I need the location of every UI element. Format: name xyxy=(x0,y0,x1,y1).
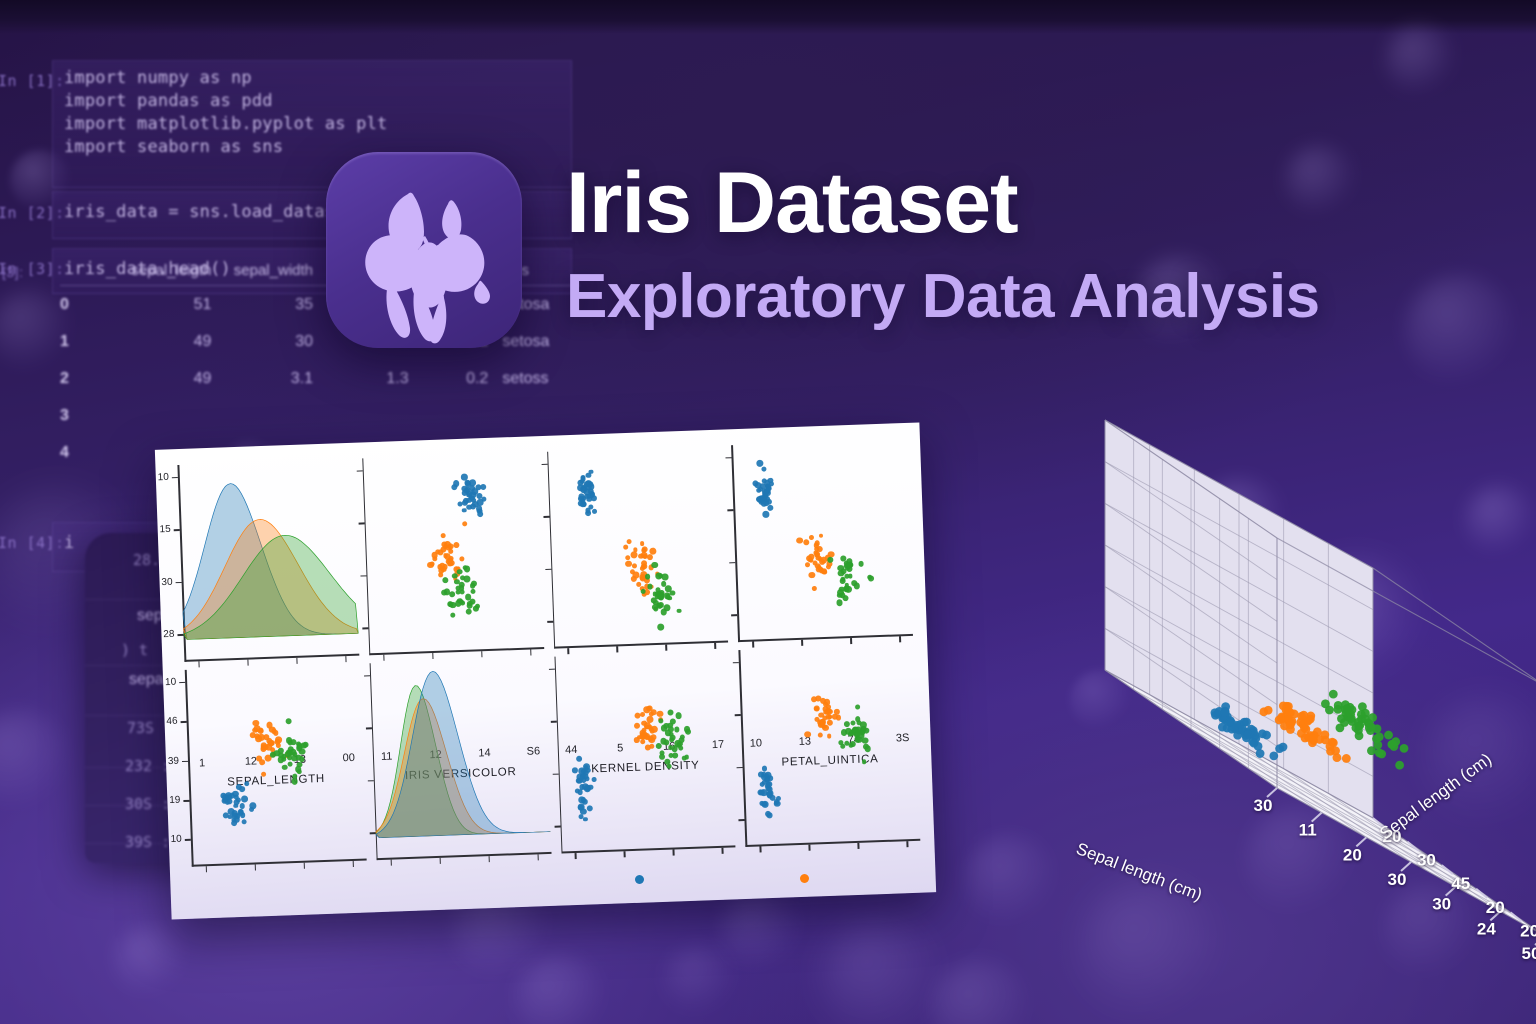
legend-dot xyxy=(635,875,644,884)
scatter-point xyxy=(759,500,764,505)
scatter-point xyxy=(282,765,287,770)
scatter-point xyxy=(239,803,245,809)
scatter-point xyxy=(634,737,640,743)
scatter-point xyxy=(631,552,638,559)
scatter-point xyxy=(827,557,833,563)
x-tick xyxy=(247,660,249,666)
scatter-point xyxy=(453,542,459,548)
scatter-point xyxy=(241,819,246,824)
x-tick xyxy=(439,858,441,864)
scatter-point-3d xyxy=(1264,706,1273,715)
iris-flower-icon xyxy=(326,152,522,348)
x-tick xyxy=(352,861,354,867)
scatter-point xyxy=(667,709,673,715)
scatter-point xyxy=(634,723,640,729)
scatter-point xyxy=(849,743,854,748)
table-cell: 0.2 xyxy=(409,370,489,388)
scatter-point xyxy=(669,737,674,742)
code-line-import-pandas: import pandas as pdd xyxy=(64,91,273,111)
x-tick xyxy=(198,661,200,667)
scatter-point xyxy=(674,727,680,733)
col-sepal-width: sepal_width xyxy=(211,262,313,279)
scatter-point-3d xyxy=(1249,739,1258,748)
y-tick xyxy=(543,516,549,518)
y-tick-label: 28 xyxy=(163,629,175,640)
scatter-point-3d xyxy=(1329,690,1338,699)
scatter-point xyxy=(583,817,588,822)
scatter-point xyxy=(587,805,594,812)
scatter-point xyxy=(766,781,772,787)
x-axis-title-3d: Sepal length (cm) xyxy=(1074,839,1205,904)
scatter-point xyxy=(756,460,763,467)
scatter-point xyxy=(816,546,822,552)
scatter-point xyxy=(249,802,256,809)
x-tick xyxy=(722,848,724,854)
y-tick xyxy=(731,615,737,617)
scatter-point-3d xyxy=(1354,726,1363,735)
scatter-point xyxy=(646,716,653,723)
scatter-point xyxy=(826,705,831,710)
scatter-point xyxy=(809,535,814,540)
y-tick xyxy=(545,569,551,571)
scatter-point xyxy=(275,739,281,745)
scatter-point xyxy=(576,756,582,762)
seaborn-pairplot-card: 10153028SEPAL_LENGTH1121300IRIS VERSICOL… xyxy=(155,422,936,919)
y-tick xyxy=(179,682,185,684)
x-tick xyxy=(383,655,385,661)
scatter-point xyxy=(845,727,852,734)
x-tick-label-3d: 30 xyxy=(1432,895,1451,914)
scatter-point xyxy=(673,753,679,759)
scatter-point xyxy=(439,568,445,574)
scatter-point xyxy=(584,480,591,487)
x-tick xyxy=(345,656,347,662)
kde-curves xyxy=(177,459,358,640)
scatter-point xyxy=(644,733,651,740)
x-tick xyxy=(481,651,483,657)
bokeh-circle xyxy=(1385,25,1455,95)
scatter-point xyxy=(641,739,646,744)
scatter-point xyxy=(838,570,844,576)
scatter-point xyxy=(441,590,447,596)
table-cell: 49 xyxy=(108,333,212,351)
scatter-point-3d xyxy=(1269,752,1278,761)
x-tick-label-3d: 50 xyxy=(1522,944,1536,963)
table-cell: 35 xyxy=(211,296,313,314)
x-tick xyxy=(752,642,754,648)
x-tick-label-3d: 30 xyxy=(1388,870,1407,889)
scatter-point xyxy=(286,718,292,724)
scatter-point xyxy=(855,705,860,710)
app-logo-tile xyxy=(326,152,522,348)
table-cell: 49 xyxy=(108,370,212,388)
x-tick xyxy=(617,646,619,652)
scatter-point xyxy=(812,586,817,591)
scatter-point xyxy=(427,562,433,568)
pairplot-panel: KERNEL DENSITY4451617 xyxy=(547,446,729,649)
panel-y-axis xyxy=(739,650,748,847)
bokeh-circle xyxy=(665,945,735,1015)
scatter-point xyxy=(475,484,481,490)
panel-x-axis xyxy=(554,641,729,649)
scatter-point-3d xyxy=(1375,748,1384,757)
x-tick xyxy=(809,845,811,851)
x-tick xyxy=(899,636,901,642)
table-cell: 1.3 xyxy=(313,370,409,388)
pairplot-panel: 10153028SEPAL_LENGTH1121300 xyxy=(177,459,359,662)
table-cell xyxy=(488,407,580,425)
scatter-point xyxy=(662,574,669,581)
scatter-point xyxy=(677,609,682,614)
scatter-point-3d xyxy=(1395,761,1404,770)
scatter-point xyxy=(654,607,659,612)
3d-scatter-svg: 760321030112030302450202020453020Sepal l… xyxy=(955,370,1535,950)
x-tick xyxy=(568,648,570,654)
bokeh-circle xyxy=(720,890,800,970)
scatter-point-3d xyxy=(1400,744,1409,753)
panel-x-axis xyxy=(184,654,359,662)
scatter-point xyxy=(666,763,672,769)
scatter-point xyxy=(222,797,228,803)
scatter-point xyxy=(448,602,453,607)
scatter-point xyxy=(808,572,815,579)
scatter-point xyxy=(261,746,267,752)
panel-y-axis xyxy=(185,670,194,867)
scatter-point xyxy=(442,577,449,584)
table-cell: 0 xyxy=(60,296,108,314)
scatter-point xyxy=(632,563,637,568)
table-cell: 30 xyxy=(211,333,313,351)
scatter-point xyxy=(448,559,455,566)
scatter-point xyxy=(845,566,850,571)
title-block: Iris Dataset Exploratory Data Analysis xyxy=(566,160,1320,328)
scatter-point xyxy=(809,554,815,560)
scatter-point xyxy=(836,599,843,606)
scatter-point xyxy=(822,570,827,575)
scatter-point xyxy=(766,813,772,819)
scatter-point xyxy=(233,803,238,808)
scatter-point xyxy=(256,756,262,762)
scatter-point xyxy=(477,511,484,518)
scatter-point xyxy=(588,504,594,510)
scatter-point xyxy=(818,533,823,538)
scatter-point xyxy=(579,501,586,508)
scatter-point xyxy=(835,714,841,720)
scatter-point-3d xyxy=(1384,731,1393,740)
scatter-point-3d xyxy=(1321,699,1330,708)
pairplot-panel: PETAL_UINTICA1013743S xyxy=(731,439,913,642)
scatter-point xyxy=(241,795,248,802)
table-cell: 2 xyxy=(60,370,108,388)
scatter-point xyxy=(664,604,671,611)
matplotlib-3d-scatter: 760321030112030302450202020453020Sepal l… xyxy=(955,370,1535,950)
scatter-point xyxy=(844,721,851,728)
scatter-point xyxy=(851,720,856,725)
x-tick xyxy=(296,658,298,664)
code-line-import-seaborn: import seaborn as sns xyxy=(64,137,283,157)
x-tick xyxy=(850,638,852,644)
col-index xyxy=(60,262,108,279)
scatter-point xyxy=(443,553,448,558)
scatter-point xyxy=(261,772,266,777)
y-tick xyxy=(547,621,553,623)
x-tick xyxy=(304,863,306,869)
scatter-point xyxy=(834,709,840,715)
scatter-point xyxy=(668,726,675,733)
scatter-point-3d xyxy=(1279,743,1288,752)
table-row: 3 xyxy=(60,397,580,434)
scatter-point xyxy=(684,755,689,760)
scatter-point xyxy=(469,495,475,501)
panel-y-axis xyxy=(547,452,556,649)
panel-x-axis xyxy=(561,846,736,854)
scatter-point-3d xyxy=(1221,708,1230,717)
y-tick xyxy=(728,510,734,512)
scatter-point xyxy=(450,612,455,617)
scatter-point xyxy=(826,719,833,726)
y-tick-label: 10 xyxy=(158,472,170,483)
scatter-point xyxy=(764,496,770,502)
scatter-point xyxy=(762,511,769,518)
scatter-point xyxy=(658,602,664,608)
output-prompt: [3]: xyxy=(2,264,23,280)
scatter-point xyxy=(805,562,810,567)
y-tick xyxy=(550,721,556,723)
pairplot-grid: 10153028SEPAL_LENGTH1121300IRIS VERSICOL… xyxy=(177,439,920,867)
scatter-point-3d xyxy=(1299,711,1308,720)
scatter-point xyxy=(465,609,471,615)
scatter-point xyxy=(457,569,463,575)
y-tick xyxy=(360,575,366,577)
y-tick xyxy=(739,819,745,821)
scatter-point xyxy=(868,576,874,582)
y-tick xyxy=(733,662,739,664)
y-tick-label: 39 xyxy=(168,755,180,766)
scatter-point xyxy=(658,718,663,723)
scatter-point xyxy=(761,774,767,780)
scatter-point xyxy=(292,778,299,785)
y-tick xyxy=(356,470,362,472)
pairplot-panel: 1046391910 xyxy=(185,664,367,867)
panel-x-axis xyxy=(376,852,551,860)
scatter-point xyxy=(762,766,767,771)
scatter-point xyxy=(796,537,803,544)
scatter-point xyxy=(651,734,657,740)
page-subtitle: Exploratory Data Analysis xyxy=(566,266,1320,328)
y-tick xyxy=(552,773,558,775)
pairplot-panel xyxy=(739,644,921,847)
scatter-point xyxy=(446,545,452,551)
scatter-point xyxy=(804,731,811,738)
table-row: 2493.11.30.2setoss xyxy=(60,360,580,397)
scatter-point-3d xyxy=(1391,737,1400,746)
scatter-point xyxy=(244,781,249,786)
scatter-point xyxy=(844,574,849,579)
y-axis-title-3d: Sepal length (cm) xyxy=(1376,750,1495,844)
scatter-point xyxy=(582,773,589,780)
y-tick-label-3d: 30 xyxy=(1417,851,1436,870)
scatter-point xyxy=(441,533,446,538)
y-tick-label-3d: 45 xyxy=(1451,874,1470,893)
scatter-point xyxy=(454,579,460,585)
scatter-point xyxy=(575,788,580,793)
table-cell: 3.1 xyxy=(211,370,313,388)
y-tick xyxy=(182,760,188,762)
table-cell xyxy=(211,407,313,425)
table-cell: 1 xyxy=(60,333,108,351)
y-tick xyxy=(362,628,368,630)
scatter-point xyxy=(287,761,292,766)
scatter-point xyxy=(585,767,591,773)
x-tick xyxy=(857,843,859,849)
x-tick xyxy=(760,846,762,852)
scatter-point xyxy=(649,548,656,555)
scatter-point xyxy=(851,580,857,586)
scatter-point-3d xyxy=(1315,735,1324,744)
x-tick-label-3d: 30 xyxy=(1254,796,1273,815)
bokeh-circle xyxy=(1405,275,1515,385)
scatter-point xyxy=(664,593,671,600)
kde-curve xyxy=(370,667,551,838)
scatter-point xyxy=(626,539,632,545)
y-tick xyxy=(548,668,554,670)
x-tick xyxy=(801,640,803,646)
scatter-point xyxy=(677,741,683,747)
kde-curves xyxy=(369,657,550,838)
y-tick-label: 10 xyxy=(170,834,182,845)
scatter-point xyxy=(814,706,819,711)
scatter-point xyxy=(303,741,309,747)
y-tick xyxy=(358,523,364,525)
scatter-point xyxy=(290,740,296,746)
x-tick xyxy=(665,645,667,651)
scatter-point xyxy=(657,710,663,716)
scatter-point-3d xyxy=(1368,713,1377,722)
scatter-point xyxy=(640,541,645,546)
scatter-point xyxy=(661,581,667,587)
x-tick xyxy=(575,853,577,859)
background-top-shade xyxy=(0,0,1536,34)
scatter-point xyxy=(659,750,664,755)
scatter-point xyxy=(646,554,652,560)
dark-panel-line-2: ) t xyxy=(121,641,148,659)
scatter-point-3d xyxy=(1284,707,1293,716)
scatter-point xyxy=(856,730,861,735)
scatter-point xyxy=(449,591,455,597)
scatter-point xyxy=(473,606,479,612)
scatter-point xyxy=(816,566,822,572)
scatter-point-3d xyxy=(1262,731,1271,740)
table-cell: 3 xyxy=(60,407,108,425)
scatter-point xyxy=(685,728,692,735)
code-line-import-matplotlib: import matplotlib.pyplot as plt xyxy=(64,114,387,134)
pairplot-panel xyxy=(554,650,736,853)
scatter-point xyxy=(578,797,585,804)
scatter-point-3d xyxy=(1331,746,1340,755)
scatter-point xyxy=(462,490,468,496)
scatter-point-3d xyxy=(1342,754,1351,763)
panel-x-axis xyxy=(192,859,367,867)
scatter-point xyxy=(585,510,592,517)
table-cell xyxy=(409,407,489,425)
scatter-point xyxy=(774,801,781,808)
scatter-point xyxy=(592,777,597,782)
x-tick-label-3d: 20 xyxy=(1343,845,1362,864)
scatter-point xyxy=(633,572,640,579)
scatter-point xyxy=(634,712,640,718)
scatter-point xyxy=(453,480,459,486)
scatter-point xyxy=(862,759,867,764)
y-tick-label: 30 xyxy=(161,577,173,588)
page-title: Iris Dataset xyxy=(566,160,1320,246)
table-cell: setoss xyxy=(488,370,580,388)
y-tick-label: 19 xyxy=(169,795,181,806)
scatter-point xyxy=(840,555,846,561)
scatter-point xyxy=(582,784,589,791)
panel-x-axis xyxy=(746,839,921,847)
y-tick xyxy=(726,457,732,459)
x-tick xyxy=(906,841,908,847)
scatter-point xyxy=(668,745,673,750)
scatter-point xyxy=(817,732,823,738)
scatter-point xyxy=(462,521,467,526)
col-sepal-length: sepal_leigth xyxy=(108,262,212,279)
scatter-point xyxy=(278,752,284,758)
scatter-point xyxy=(470,589,475,594)
x-tick xyxy=(624,851,626,857)
table-cell: 51 xyxy=(108,296,212,314)
scatter-point xyxy=(482,497,487,502)
scatter-point xyxy=(767,790,772,795)
scatter-point xyxy=(658,624,665,631)
scatter-point xyxy=(296,769,302,775)
scatter-point xyxy=(231,810,238,817)
panel-y-axis xyxy=(554,657,563,854)
scatter-point-3d xyxy=(1367,722,1376,731)
x-tick-label-3d: 24 xyxy=(1477,919,1496,938)
scatter-point xyxy=(645,744,651,750)
pairplot-panel: IRIS VERSICOLOR111214S6 xyxy=(362,452,544,655)
y-tick-label: 10 xyxy=(165,677,177,688)
y-tick xyxy=(181,721,187,723)
scatter-point xyxy=(435,549,440,554)
x-tick xyxy=(714,643,716,649)
table-cell xyxy=(108,407,212,425)
scatter-point-3d xyxy=(1373,740,1382,749)
scatter-point-3d xyxy=(1256,749,1265,758)
scatter-point xyxy=(455,600,462,607)
scatter-point xyxy=(292,756,298,762)
scatter-point-3d xyxy=(1375,732,1384,741)
table-cell xyxy=(313,407,409,425)
legend-dot xyxy=(800,874,809,883)
y-tick xyxy=(185,839,191,841)
code-line-cell4: i xyxy=(64,533,74,553)
panel-x-axis xyxy=(369,647,544,655)
y-tick xyxy=(735,714,741,716)
scatter-point-3d xyxy=(1342,704,1351,713)
x-tick xyxy=(673,850,675,856)
panel-y-axis xyxy=(731,445,740,642)
scatter-point xyxy=(648,725,653,730)
scatter-point xyxy=(840,743,845,748)
x-tick-label-3d: 11 xyxy=(1299,821,1317,840)
scatter-point xyxy=(647,706,653,712)
scatter-point xyxy=(665,586,672,593)
scatter-point xyxy=(676,712,682,718)
scatter-point xyxy=(464,566,471,573)
y-tick xyxy=(183,800,189,802)
